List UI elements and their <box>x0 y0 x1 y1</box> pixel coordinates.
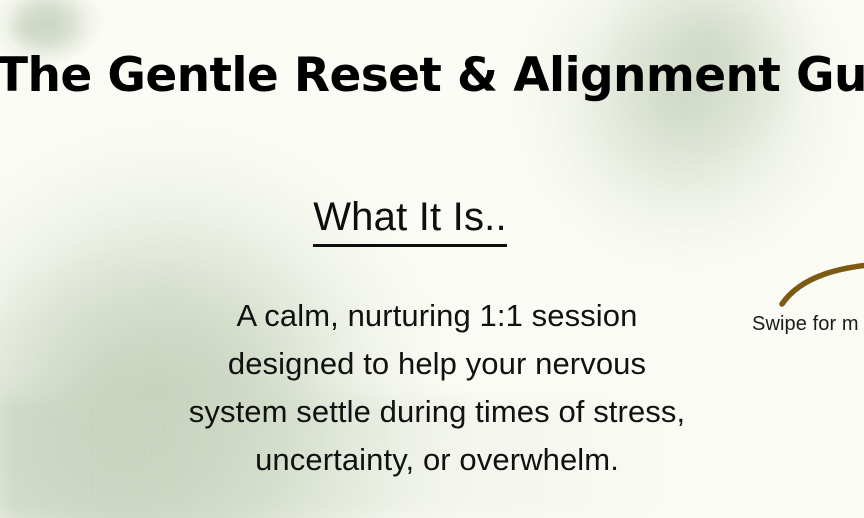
swipe-cue-label: Swipe for m <box>752 310 859 338</box>
swipe-cue: Swipe for m <box>748 258 864 348</box>
curved-arrow-icon <box>748 258 864 318</box>
watercolor-wash-top-left-tail <box>8 6 68 48</box>
body-line: designed to help your nervous <box>0 340 864 388</box>
slide-canvas: The Gentle Reset & Alignment Guide What … <box>0 0 864 518</box>
body-line: uncertainty, or overwhelm. <box>0 436 864 484</box>
body-paragraph: A calm, nurturing 1:1 session designed t… <box>0 292 864 484</box>
section-heading-container: What It Is.. <box>0 192 820 247</box>
section-heading-what-it-is: What It Is.. <box>313 192 507 247</box>
body-line: system settle during times of stress, <box>0 388 864 436</box>
page-title: The Gentle Reset & Alignment Guide <box>0 44 864 108</box>
body-line: A calm, nurturing 1:1 session <box>0 292 864 340</box>
